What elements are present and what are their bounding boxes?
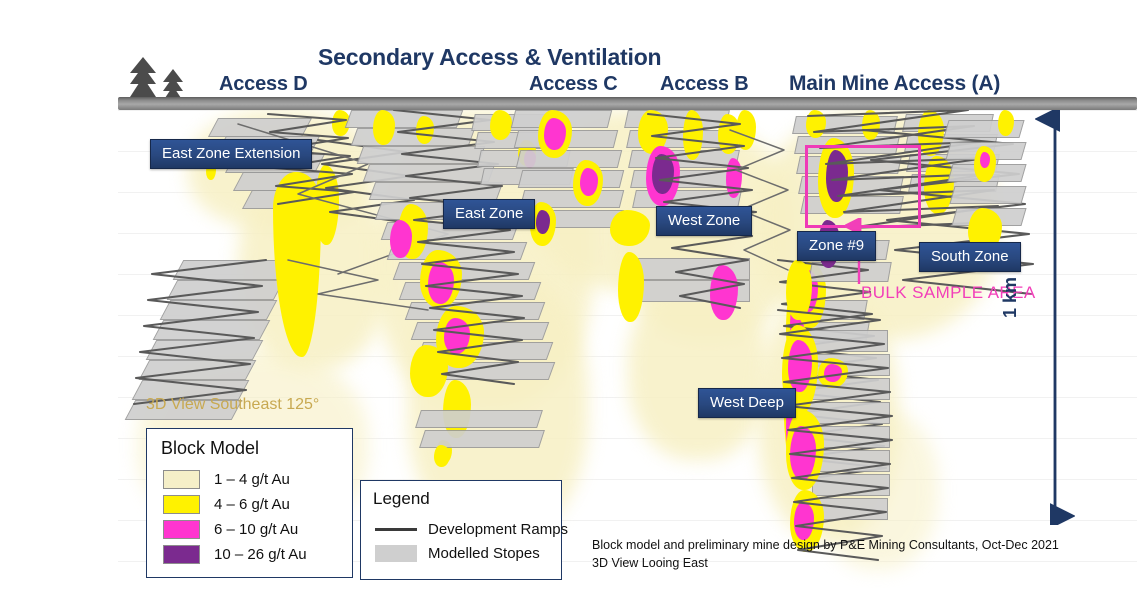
- credit-line-2: 3D View Looing East: [592, 554, 1059, 572]
- modelled-stope: [518, 170, 624, 188]
- zone-label-zone-9[interactable]: Zone #9: [797, 231, 876, 261]
- development-ramp-symbol: [375, 528, 417, 531]
- zone-label-east-zone-extension[interactable]: East Zone Extension: [150, 139, 312, 169]
- swatch-6-10: [163, 520, 200, 539]
- modelled-stope: [415, 410, 543, 428]
- modelled-stope-symbol: [375, 545, 417, 562]
- legend-item: Development Ramps: [375, 521, 568, 538]
- credit-line-1: Block model and preliminary mine design …: [592, 536, 1059, 554]
- page-title: Secondary Access & Ventilation: [318, 44, 661, 71]
- swatch-10-26: [163, 545, 200, 564]
- scale-bar: [1035, 110, 1075, 525]
- label-access-c: Access C: [529, 73, 617, 96]
- legend-label: Modelled Stopes: [428, 545, 540, 562]
- legend-item: 10 – 26 g/t Au: [163, 545, 307, 564]
- label-access-d: Access D: [219, 73, 307, 96]
- legend-item: 6 – 10 g/t Au: [163, 520, 298, 539]
- modelled-stope: [516, 150, 622, 168]
- block-model-title: Block Model: [161, 438, 259, 459]
- ground-surface-line: [118, 97, 1137, 110]
- legend-title: Legend: [373, 489, 430, 509]
- legend-label: Development Ramps: [428, 521, 568, 538]
- label-access-b: Access B: [660, 73, 748, 96]
- zone-label-east-zone[interactable]: East Zone: [443, 199, 535, 229]
- label-main-mine-access: Main Mine Access (A): [789, 72, 1000, 96]
- map-legend: Legend Development Ramps Modelled Stopes: [360, 480, 562, 580]
- legend-label: 4 – 6 g/t Au: [214, 496, 290, 513]
- legend-item: 4 – 6 g/t Au: [163, 495, 290, 514]
- swatch-1-4: [163, 470, 200, 489]
- zone-label-west-zone[interactable]: West Zone: [656, 206, 752, 236]
- zone-label-south-zone[interactable]: South Zone: [919, 242, 1021, 272]
- zone-label-west-deep[interactable]: West Deep: [698, 388, 796, 418]
- scale-label: 1 km: [1000, 277, 1021, 318]
- legend-label: 1 – 4 g/t Au: [214, 471, 290, 488]
- legend-label: 6 – 10 g/t Au: [214, 521, 298, 538]
- legend-label: 10 – 26 g/t Au: [214, 546, 307, 563]
- legend-item: 1 – 4 g/t Au: [163, 470, 290, 489]
- swatch-4-6: [163, 495, 200, 514]
- block-model-legend: Block Model 1 – 4 g/t Au 4 – 6 g/t Au 6 …: [146, 428, 353, 578]
- development-ramp: [288, 260, 458, 320]
- figure-credit: Block model and preliminary mine design …: [592, 536, 1059, 572]
- bulk-sample-area-box: [805, 145, 921, 228]
- view-orientation-note: 3D View Southeast 125°: [146, 396, 319, 414]
- modelled-stope: [949, 186, 1026, 204]
- mine-section-figure: Secondary Access & Ventilation Access D …: [0, 0, 1137, 605]
- legend-item: Modelled Stopes: [375, 545, 540, 562]
